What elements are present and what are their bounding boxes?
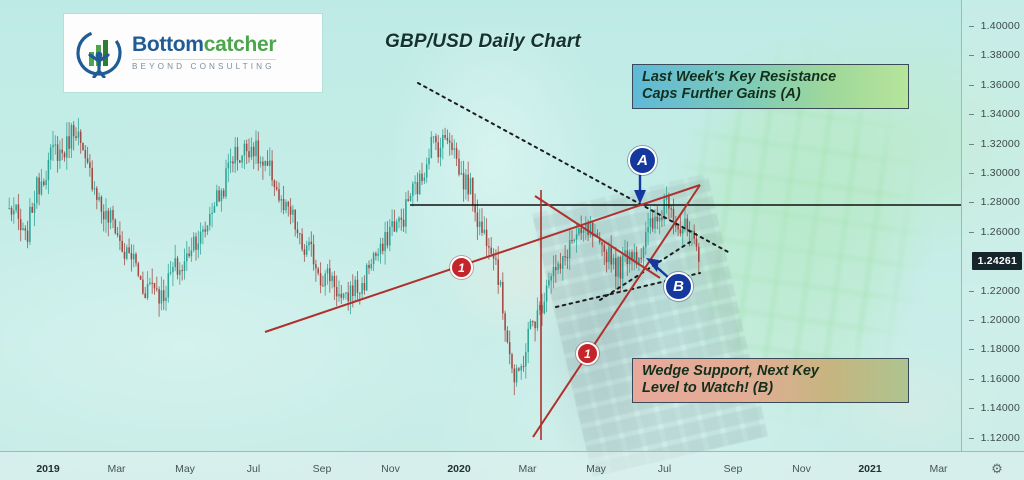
price-tick: 1.32000 [981, 138, 1020, 150]
time-axis[interactable]: 2019MarMayJulSepNov2020MarMayJulSepNov20… [0, 451, 1024, 480]
annotation-callout-b: Wedge Support, Next Key Level to Watch! … [632, 358, 909, 403]
annotation-b-line1: Wedge Support, Next Key [642, 363, 900, 380]
time-tick: Jul [658, 463, 671, 475]
time-tick: May [175, 463, 195, 475]
marker-a-badge: A [628, 146, 657, 175]
time-tick: 2019 [36, 463, 59, 475]
time-tick: 2020 [447, 463, 470, 475]
time-tick: Sep [724, 463, 743, 475]
price-tick: 1.34000 [981, 108, 1020, 120]
bar-chart-person-logo-icon [74, 28, 124, 78]
annotation-a-line2: Caps Further Gains (A) [642, 86, 900, 103]
price-tick: 1.40000 [981, 20, 1020, 32]
time-tick: 2021 [858, 463, 881, 475]
price-tick: 1.28000 [981, 196, 1020, 208]
time-tick: May [586, 463, 606, 475]
time-tick: Nov [792, 463, 811, 475]
price-tick: 1.38000 [981, 49, 1020, 61]
time-tick: Sep [313, 463, 332, 475]
price-tick: 1.20000 [981, 314, 1020, 326]
price-tick: 1.14000 [981, 402, 1020, 414]
price-tick: 1.26000 [981, 226, 1020, 238]
trendline-marker-1a: 1 [450, 256, 473, 279]
logo-name-part1: Bottom [132, 33, 204, 56]
annotation-callout-a: Last Week's Key Resistance Caps Further … [632, 64, 909, 109]
page-title: GBP/USD Daily Chart [385, 31, 581, 53]
trendline-marker-1b: 1 [576, 342, 599, 365]
time-tick: Nov [381, 463, 400, 475]
price-tick: 1.18000 [981, 343, 1020, 355]
logo-wordmark: Bottomcatcher BEYOND CONSULTING [132, 34, 276, 71]
brand-logo: Bottomcatcher BEYOND CONSULTING [64, 14, 322, 92]
current-price-badge: 1.24261 [972, 252, 1022, 270]
marker-b-badge: B [664, 272, 693, 301]
time-tick: Jul [247, 463, 260, 475]
logo-name: Bottomcatcher [132, 34, 276, 55]
price-tick: 1.30000 [981, 167, 1020, 179]
chart-screenshot: 1.400001.380001.360001.340001.320001.300… [0, 0, 1024, 480]
price-tick: 1.16000 [981, 373, 1020, 385]
logo-tagline: BEYOND CONSULTING [132, 59, 276, 71]
annotation-b-line2: Level to Watch! (B) [642, 380, 900, 397]
time-tick: Mar [929, 463, 947, 475]
annotation-a-line1: Last Week's Key Resistance [642, 69, 900, 86]
logo-name-part2: catcher [204, 33, 277, 56]
price-tick: 1.36000 [981, 79, 1020, 91]
price-tick: 1.12000 [981, 432, 1020, 444]
price-axis[interactable]: 1.400001.380001.360001.340001.320001.300… [961, 0, 1024, 452]
time-tick: Mar [518, 463, 536, 475]
price-tick: 1.22000 [981, 285, 1020, 297]
time-tick: Mar [107, 463, 125, 475]
gear-icon[interactable]: ⚙ [990, 462, 1004, 476]
